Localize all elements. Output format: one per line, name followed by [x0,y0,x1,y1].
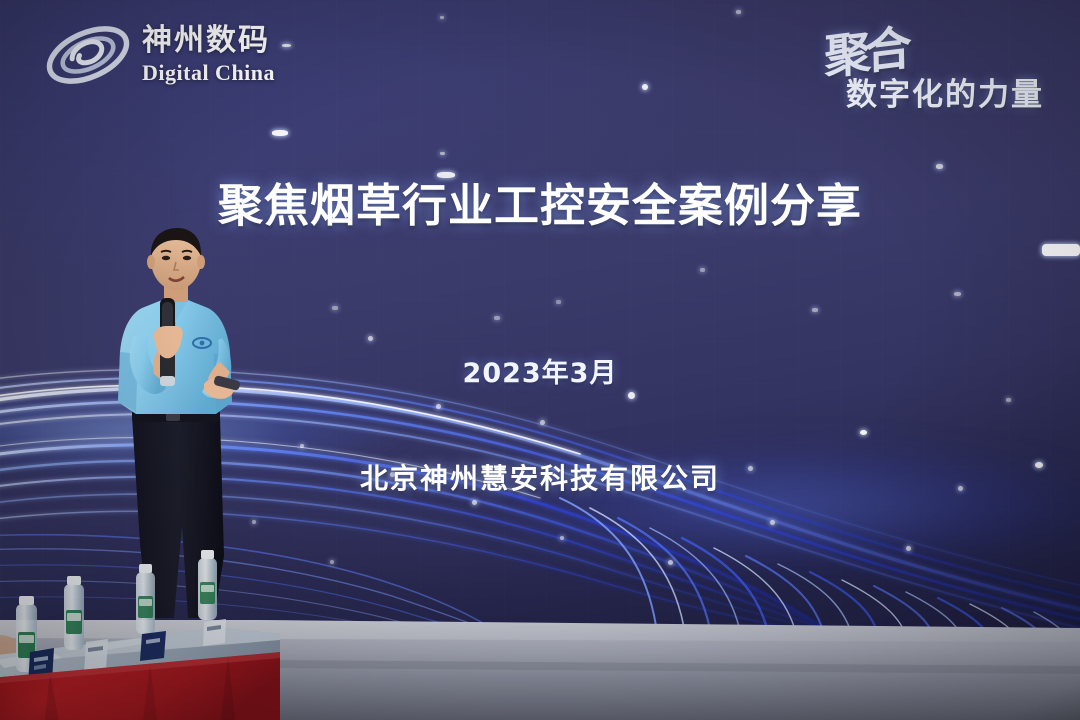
panel-table [0,548,280,720]
digital-china-swirl-icon [42,18,134,92]
water-bottle [136,564,155,634]
name-card [140,631,166,661]
name-card [203,619,226,646]
brand-name-en: Digital China [142,62,275,84]
conference-photo: 聚焦烟草行业工控安全案例分享 2023年3月 北京神州慧安科技有限公司 神州数码… [0,0,1080,720]
event-logo: 聚合 数字化的力量 [798,14,1058,118]
brand-name-cn: 神州数码 [142,26,275,56]
brand-wordmark: 神州数码 Digital China [142,26,275,84]
water-bottle [64,576,84,650]
digital-china-logo: 神州数码 Digital China [42,18,275,92]
slide-title: 聚焦烟草行业工控安全案例分享 [0,183,1080,228]
event-subtitle: 数字化的力量 [846,69,1044,114]
water-bottle [198,550,217,620]
